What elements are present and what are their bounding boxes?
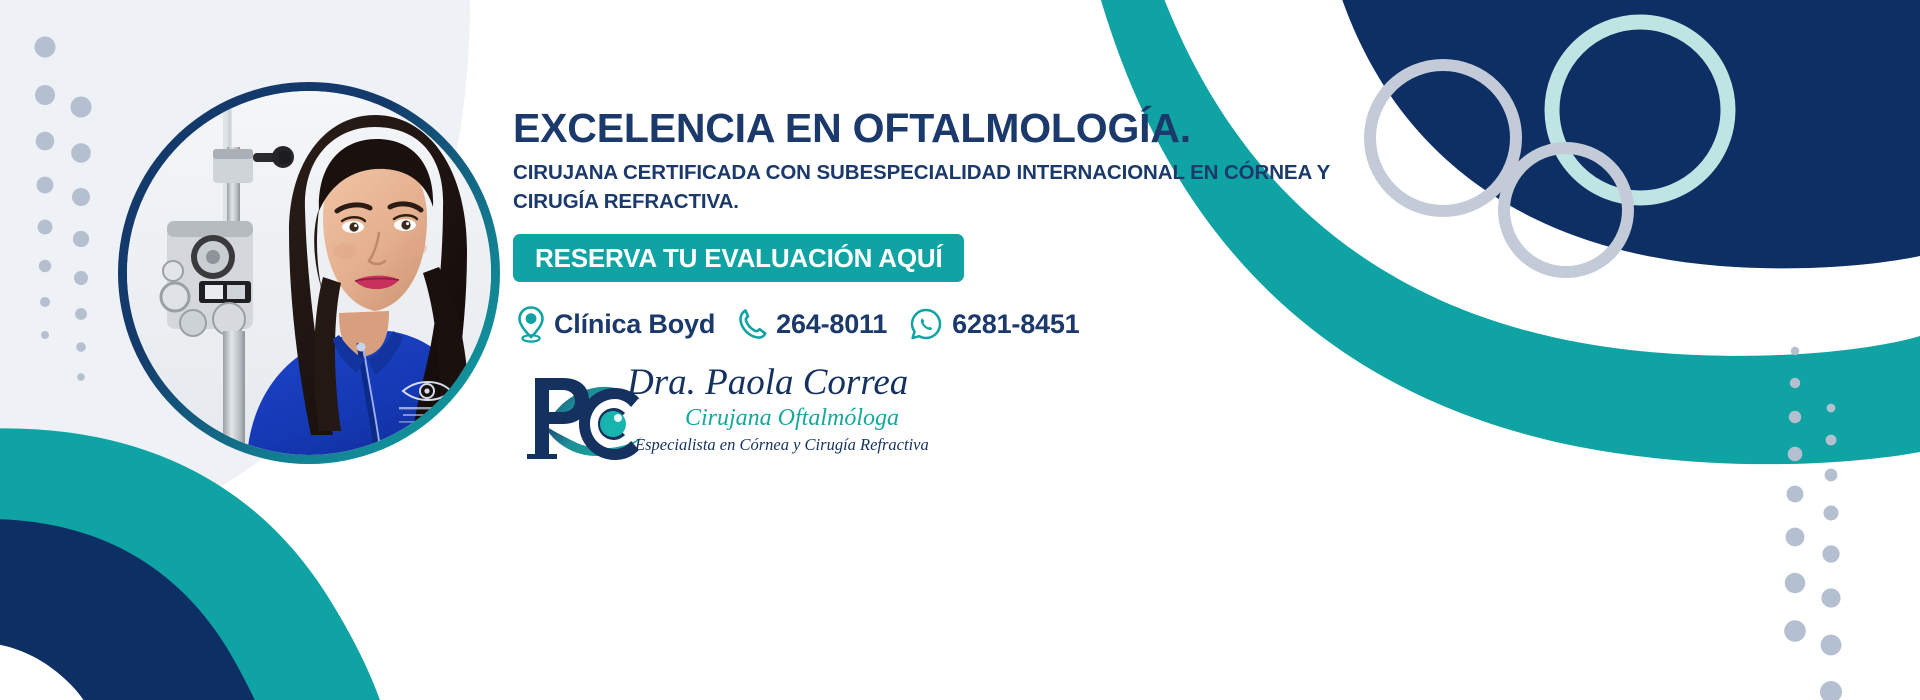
contact-location[interactable]: Clínica Boyd xyxy=(517,305,715,343)
contact-phone-label: 264-8011 xyxy=(776,309,887,340)
phone-icon xyxy=(737,307,767,341)
contact-whatsapp[interactable]: 6281-8451 xyxy=(909,307,1079,341)
portrait-illustration xyxy=(127,91,491,455)
reserve-evaluation-button[interactable]: RESERVA TU EVALUACIÓN AQUÍ xyxy=(513,234,964,282)
brand-logo[interactable]: Dra. Paola Correa Cirujana Oftalmóloga E… xyxy=(519,362,959,472)
whatsapp-icon xyxy=(909,307,943,341)
banner-content: EXCELENCIA EN OFTALMOLOGÍA. CIRUJANA CER… xyxy=(513,0,1473,700)
contact-location-label: Clínica Boyd xyxy=(554,309,715,340)
logo-doctor-role: Cirujana Oftalmóloga xyxy=(685,406,929,430)
contact-row: Clínica Boyd 264-8011 6281-8451 xyxy=(517,305,1079,343)
doctor-portrait xyxy=(118,82,500,464)
subtitle: CIRUJANA CERTIFICADA CON SUBESPECIALIDAD… xyxy=(513,158,1418,216)
location-pin-icon xyxy=(517,305,545,343)
promo-banner: EXCELENCIA EN OFTALMOLOGÍA. CIRUJANA CER… xyxy=(0,0,1920,700)
page-title: EXCELENCIA EN OFTALMOLOGÍA. xyxy=(513,107,1191,150)
portrait-image-clip xyxy=(127,91,491,455)
contact-phone[interactable]: 264-8011 xyxy=(737,307,887,341)
logo-wordmark: Dra. Paola Correa Cirujana Oftalmóloga E… xyxy=(627,364,929,454)
logo-doctor-name: Dra. Paola Correa xyxy=(627,364,929,401)
logo-doctor-specialty: Especialista en Córnea y Cirugía Refract… xyxy=(635,437,929,454)
contact-whatsapp-label: 6281-8451 xyxy=(952,309,1079,340)
